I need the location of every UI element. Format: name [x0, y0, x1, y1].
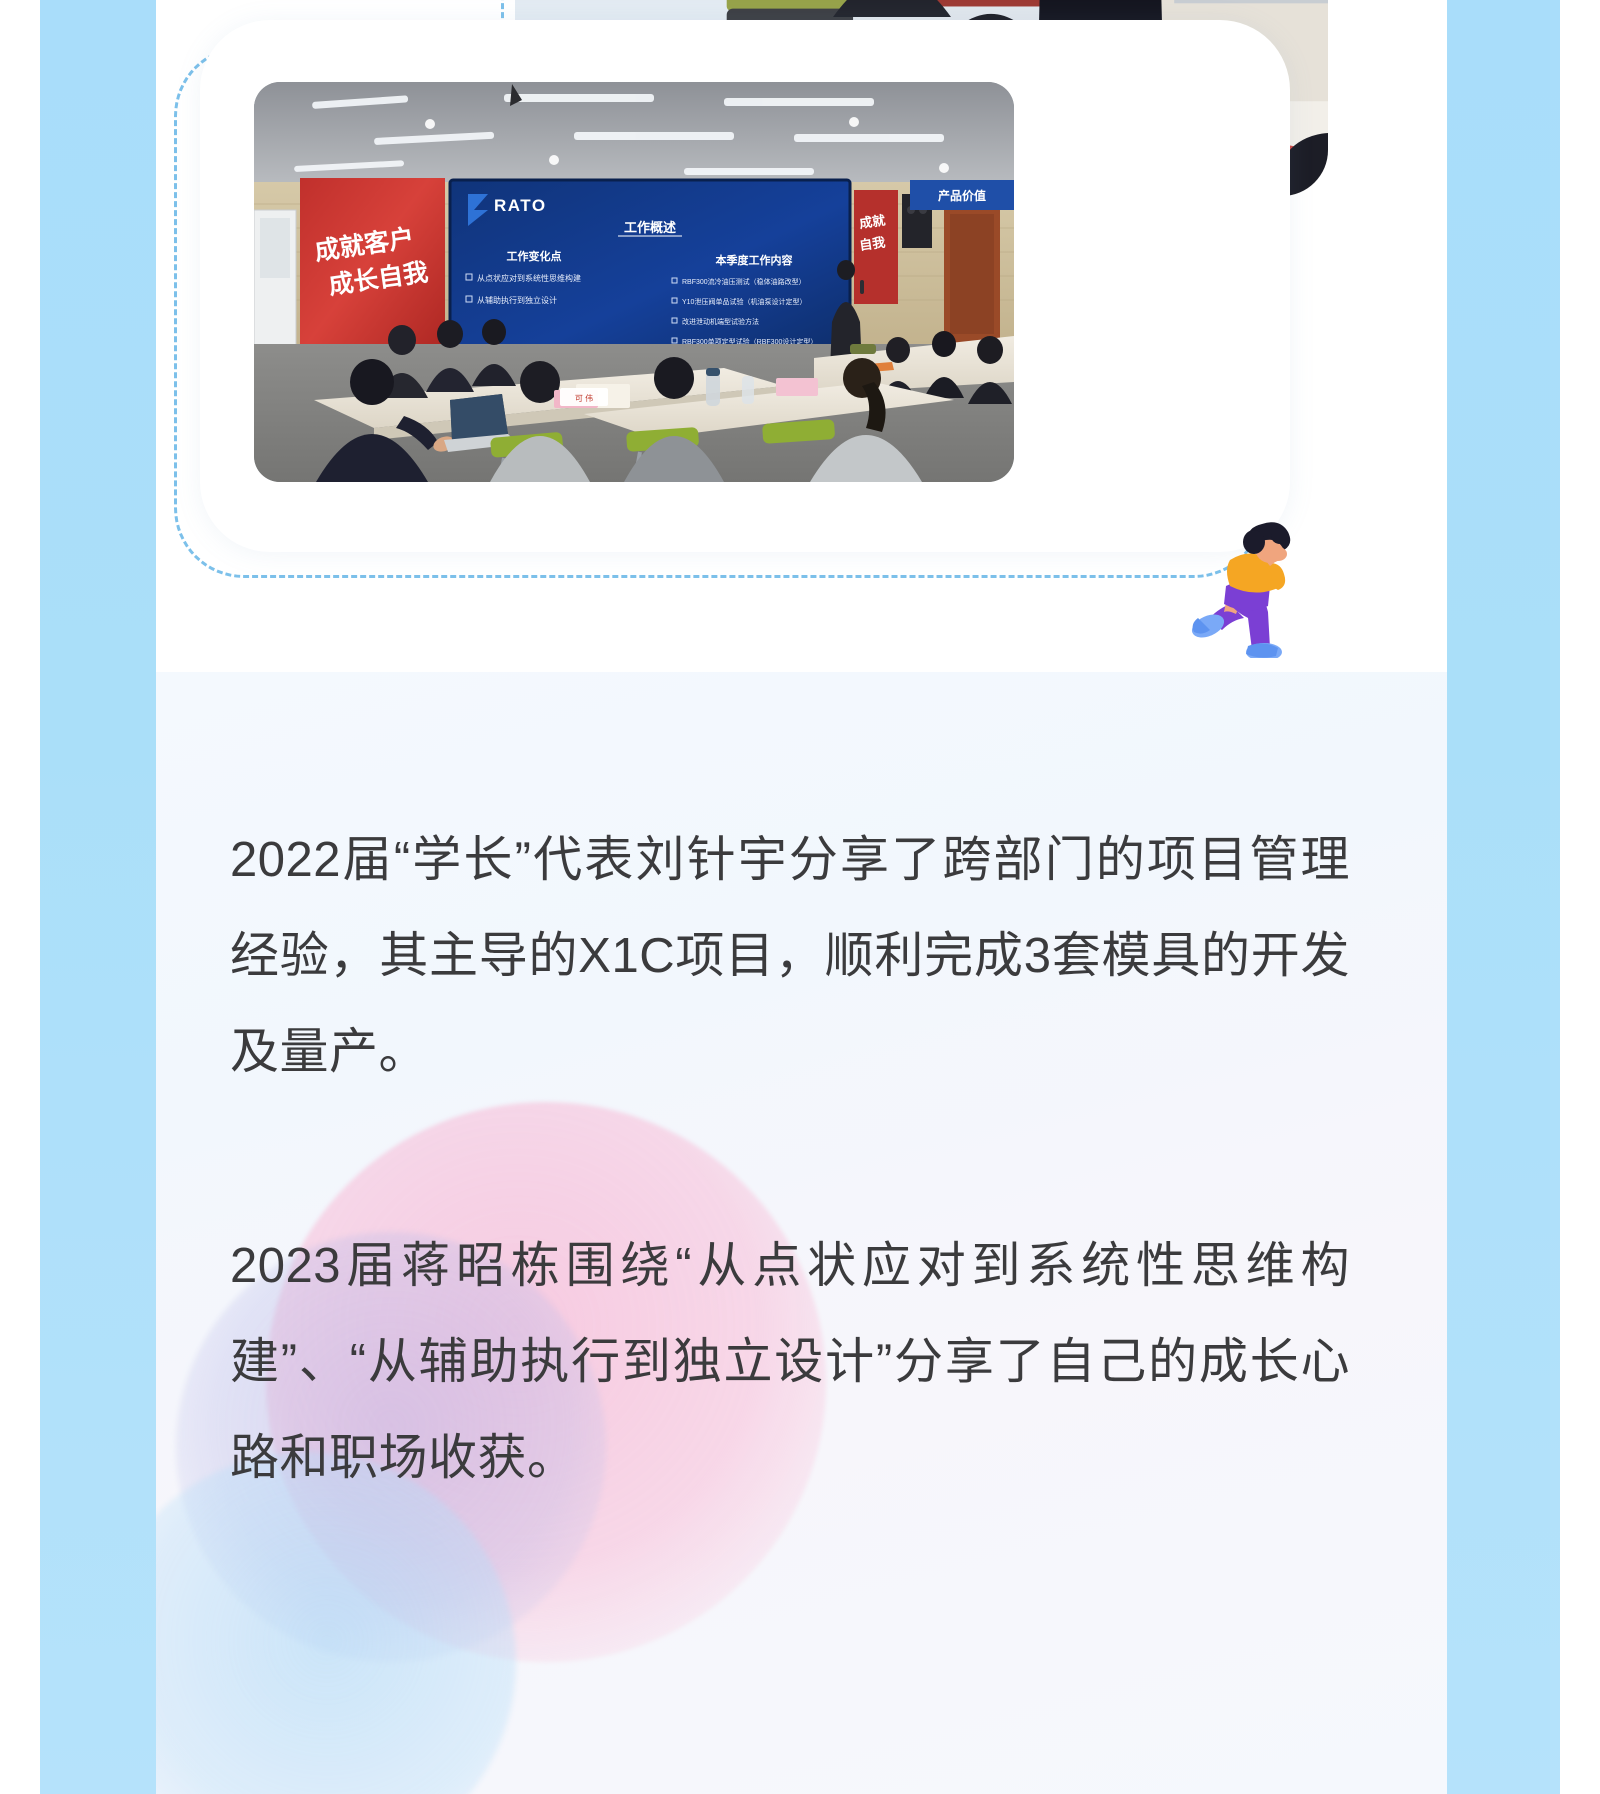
svg-text:可 伟: 可 伟 — [575, 393, 593, 403]
main-photo-card: 成就客户 成长自我 RATO — [200, 20, 1290, 552]
slide-right-item-1: Y10泄压阀单品试验（机油泵设计定型） — [682, 297, 806, 306]
paragraph-1: 2022届“学长”代表刘针宇分享了跨部门的项目管理经验，其主导的X1C项目，顺利… — [230, 812, 1350, 1100]
content-column: 成就客户 成长自我 RATO — [156, 0, 1447, 1794]
slide-left-item-0: 从点状应对到系统性思维构建 — [477, 273, 581, 283]
left-decorative-rail — [40, 0, 156, 1794]
slide-right-item-2: 改进泄动机端型试验方法 — [682, 317, 759, 326]
slide-title: 工作概述 — [624, 220, 676, 235]
slide-logo: RATO — [494, 196, 547, 215]
slide-right-item-0: RBF300流冷油压测试（稳体油路改型） — [682, 277, 806, 286]
right-decorative-rail — [1447, 0, 1560, 1794]
article-page: 成就客户 成长自我 RATO — [0, 0, 1600, 1794]
running-person-illustration — [1186, 518, 1306, 658]
main-photo-block: 成就客户 成长自我 RATO — [174, 46, 1264, 578]
slide-col-left-heading: 工作变化点 — [507, 249, 562, 263]
meeting-room-photo: 成就客户 成长自我 RATO — [254, 82, 1014, 482]
banner-right: 产品价值 — [938, 188, 986, 203]
article-body-section: 2022届“学长”代表刘针宇分享了跨部门的项目管理经验，其主导的X1C项目，顺利… — [156, 672, 1447, 1794]
slide-left-item-1: 从辅助执行到独立设计 — [477, 295, 557, 305]
photo-hero-section: 成就客户 成长自我 RATO — [156, 0, 1447, 672]
paragraph-container: 2022届“学长”代表刘针宇分享了跨部门的项目管理经验，其主导的X1C项目，顺利… — [230, 812, 1350, 1506]
slide-col-right-heading: 本季度工作内容 — [716, 253, 793, 267]
paragraph-2: 2023届蒋昭栋围绕“从点状应对到系统性思维构建”、“从辅助执行到独立设计”分享… — [230, 1218, 1350, 1506]
